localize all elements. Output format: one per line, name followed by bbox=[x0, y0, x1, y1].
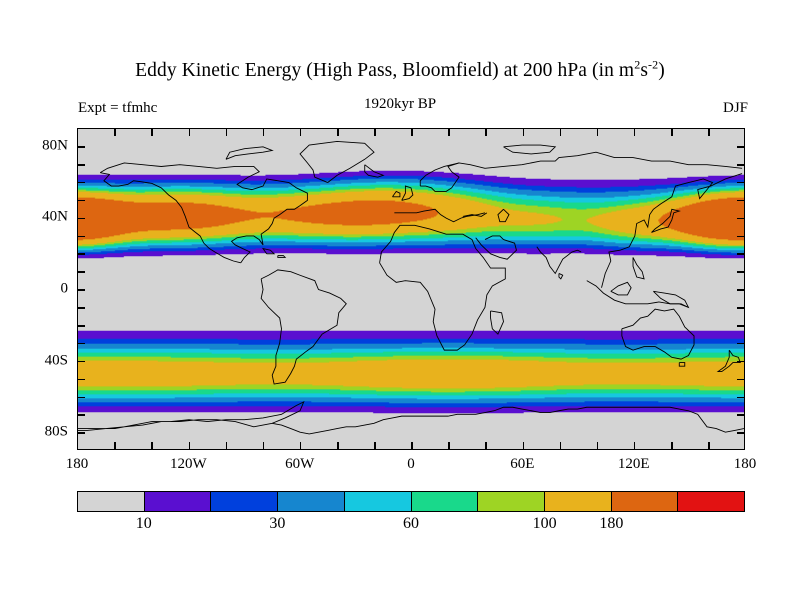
x-axis-tick bbox=[708, 442, 710, 449]
y-axis-tick bbox=[737, 253, 744, 255]
y-axis-tick bbox=[737, 146, 744, 148]
coastline-path bbox=[394, 209, 485, 221]
x-axis-tick bbox=[300, 129, 302, 136]
colorbar-tick-label: 180 bbox=[576, 515, 646, 533]
y-axis-tick bbox=[78, 325, 85, 327]
x-axis-tick bbox=[671, 442, 673, 449]
x-axis-tick bbox=[708, 129, 710, 136]
colorbar-segment-180-plus-lower bbox=[612, 492, 679, 511]
y-axis-label: 40N bbox=[22, 209, 68, 226]
y-axis-tick bbox=[78, 146, 85, 148]
colorbar-segment-60-80 bbox=[412, 492, 479, 511]
coastline-path bbox=[611, 282, 631, 295]
y-axis-tick bbox=[737, 236, 744, 238]
x-axis-tick bbox=[671, 129, 673, 136]
colorbar-segment-30-45 bbox=[278, 492, 345, 511]
x-axis-tick bbox=[374, 129, 376, 136]
x-axis-tick bbox=[151, 442, 153, 449]
y-axis-tick bbox=[78, 289, 85, 291]
coastline-path bbox=[263, 249, 274, 254]
y-axis-tick bbox=[78, 200, 85, 202]
x-axis-label: 0 bbox=[371, 456, 451, 473]
y-axis-tick bbox=[78, 236, 85, 238]
x-axis-tick bbox=[634, 129, 636, 136]
y-axis-tick bbox=[78, 307, 85, 309]
coastline-path bbox=[498, 209, 509, 221]
x-axis-tick bbox=[337, 129, 339, 136]
coastline-path bbox=[653, 291, 688, 307]
y-axis-tick bbox=[737, 271, 744, 273]
period-label: 1920kyr BP bbox=[0, 96, 800, 113]
coastline-path bbox=[392, 191, 399, 196]
coastline-path bbox=[602, 174, 743, 288]
y-axis-label: 0 bbox=[22, 281, 68, 298]
figure-root: Eddy Kinetic Energy (High Pass, Bloomfie… bbox=[0, 0, 800, 600]
coastline-path bbox=[420, 163, 459, 186]
colorbar-segment-100-180 bbox=[545, 492, 612, 511]
x-axis-tick bbox=[560, 129, 562, 136]
coastline-path bbox=[100, 173, 241, 263]
x-axis-label: 180 bbox=[705, 456, 785, 473]
coastline-path bbox=[380, 225, 506, 350]
coastline-path bbox=[491, 311, 504, 334]
coastline-path bbox=[537, 247, 581, 274]
x-axis-tick bbox=[374, 442, 376, 449]
coastline-path bbox=[622, 309, 694, 359]
y-axis-tick bbox=[78, 414, 85, 416]
colorbar-segment-80-100 bbox=[478, 492, 545, 511]
coastline-path bbox=[100, 163, 307, 263]
coastline-path bbox=[261, 270, 346, 384]
y-axis-tick bbox=[737, 343, 744, 345]
coastline-path bbox=[365, 165, 384, 177]
x-axis-tick bbox=[560, 442, 562, 449]
x-axis-label: 120E bbox=[594, 456, 674, 473]
title-close-paren: ) bbox=[658, 60, 665, 81]
x-axis-tick bbox=[523, 129, 525, 136]
x-axis-tick bbox=[114, 442, 116, 449]
x-axis-tick bbox=[411, 129, 413, 136]
x-axis-tick bbox=[151, 129, 153, 136]
x-axis-tick bbox=[485, 129, 487, 136]
x-axis-tick bbox=[189, 129, 191, 136]
chart-title-text: Eddy Kinetic Energy (High Pass, Bloomfie… bbox=[135, 60, 634, 81]
coastline-path bbox=[633, 257, 644, 278]
x-axis-label: 120W bbox=[148, 456, 228, 473]
colorbar-tick-label: 30 bbox=[242, 515, 312, 533]
y-axis-tick bbox=[78, 432, 85, 434]
y-axis-tick bbox=[78, 361, 85, 363]
x-axis-tick bbox=[448, 442, 450, 449]
y-axis-tick bbox=[737, 182, 744, 184]
colorbar-segment-20-30 bbox=[211, 492, 278, 511]
coastline-path bbox=[78, 402, 304, 431]
y-axis-tick bbox=[78, 379, 85, 381]
y-axis-tick bbox=[737, 218, 744, 220]
colorbar-tick-label: 100 bbox=[510, 515, 580, 533]
colorbar-segment-above-180 bbox=[678, 492, 744, 511]
x-axis-tick bbox=[523, 442, 525, 449]
y-axis-tick bbox=[78, 253, 85, 255]
y-axis-tick bbox=[78, 218, 85, 220]
y-axis-tick bbox=[78, 164, 85, 166]
y-axis-tick bbox=[737, 307, 744, 309]
colorbar-tick-label: 10 bbox=[109, 515, 179, 533]
y-axis-label: 40S bbox=[22, 352, 68, 369]
x-axis-tick bbox=[597, 129, 599, 136]
coastline-path bbox=[272, 407, 744, 434]
y-axis-tick bbox=[78, 271, 85, 273]
title-superscript-minus2: -2 bbox=[648, 58, 658, 72]
coastline-path bbox=[559, 273, 563, 278]
y-axis-tick bbox=[737, 397, 744, 399]
season-label: DJF bbox=[723, 100, 748, 117]
x-axis-label: 60E bbox=[482, 456, 562, 473]
y-axis-tick bbox=[737, 361, 744, 363]
coastline-path bbox=[420, 152, 742, 191]
x-axis-tick bbox=[263, 442, 265, 449]
coastline-path bbox=[278, 256, 285, 258]
coastline-path bbox=[679, 363, 684, 367]
x-axis-tick bbox=[411, 442, 413, 449]
colorbar-segment-10-20 bbox=[145, 492, 212, 511]
coastline-overlay bbox=[78, 129, 744, 450]
x-axis-tick bbox=[263, 129, 265, 136]
y-axis-tick bbox=[78, 182, 85, 184]
title-unit-s: s bbox=[640, 60, 648, 81]
y-axis-tick bbox=[737, 289, 744, 291]
x-axis-label: 60W bbox=[260, 456, 340, 473]
x-axis-tick bbox=[300, 442, 302, 449]
y-axis-tick bbox=[737, 325, 744, 327]
y-axis-tick bbox=[737, 164, 744, 166]
coastline-path bbox=[504, 145, 556, 154]
x-axis-tick bbox=[597, 442, 599, 449]
colorbar-segment-45-60 bbox=[345, 492, 412, 511]
x-axis-tick bbox=[485, 442, 487, 449]
x-axis-tick bbox=[226, 129, 228, 136]
map-plot-area bbox=[77, 128, 745, 450]
x-axis-tick bbox=[634, 442, 636, 449]
colorbar-tick-label: 60 bbox=[376, 515, 446, 533]
coastline-path bbox=[300, 141, 374, 182]
x-axis-label: 180 bbox=[37, 456, 117, 473]
colorbar-segment-below-10 bbox=[78, 492, 145, 511]
x-axis-tick bbox=[226, 442, 228, 449]
coastline-path bbox=[651, 209, 679, 232]
y-axis-tick bbox=[737, 414, 744, 416]
y-axis-tick bbox=[737, 379, 744, 381]
coastline-path bbox=[226, 147, 272, 159]
y-axis-tick bbox=[737, 432, 744, 434]
y-axis-tick bbox=[78, 397, 85, 399]
coastline-path bbox=[402, 186, 413, 200]
x-axis-tick bbox=[337, 442, 339, 449]
chart-title: Eddy Kinetic Energy (High Pass, Bloomfie… bbox=[0, 60, 800, 82]
x-axis-tick bbox=[189, 442, 191, 449]
y-axis-label: 80N bbox=[22, 137, 68, 154]
colorbar bbox=[77, 491, 745, 512]
x-axis-tick bbox=[448, 129, 450, 136]
y-axis-tick bbox=[78, 343, 85, 345]
y-axis-tick bbox=[737, 200, 744, 202]
y-axis-label: 80S bbox=[22, 424, 68, 441]
x-axis-tick bbox=[114, 129, 116, 136]
